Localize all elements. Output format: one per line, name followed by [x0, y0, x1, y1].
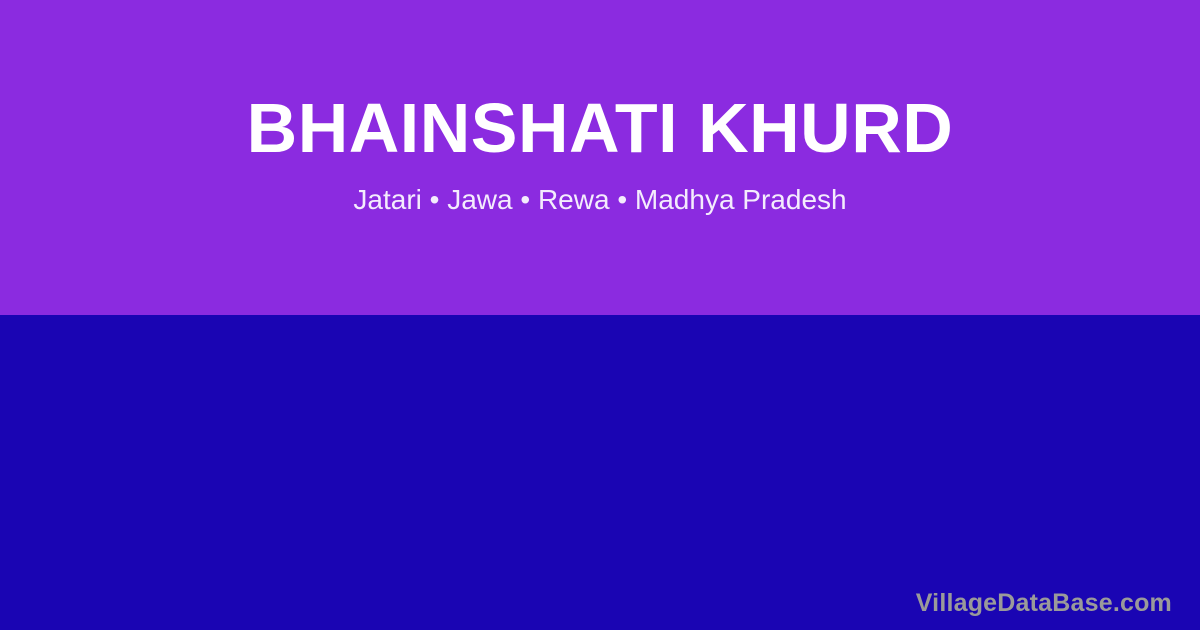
page-title: BHAINSHATI KHURD: [0, 86, 1200, 170]
header-band: BHAINSHATI KHURD Jatari • Jawa • Rewa • …: [0, 0, 1200, 315]
site-watermark: VillageDataBase.com: [916, 588, 1172, 618]
village-info-card: BHAINSHATI KHURD Jatari • Jawa • Rewa • …: [0, 0, 1200, 630]
body-panel: Town: Damaura (10 km): [0, 315, 1200, 630]
breadcrumb: Jatari • Jawa • Rewa • Madhya Pradesh: [0, 182, 1200, 218]
